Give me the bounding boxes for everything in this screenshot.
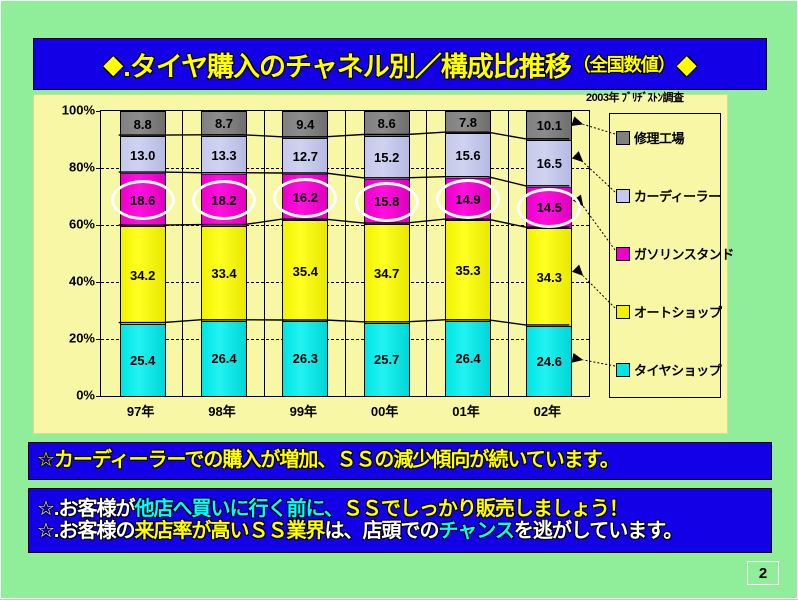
- y-axis-tick-label: 100%: [62, 103, 95, 118]
- bar-value-label: 25.7: [374, 352, 399, 367]
- bar-segment[interactable]: 15.8: [365, 179, 409, 224]
- bar-value-label: 25.4: [130, 353, 155, 368]
- bar-segment[interactable]: 16.5: [527, 140, 571, 187]
- callout-box-summary: ☆カーディーラーでの購入が増加、ＳＳの減少傾向が続いています。: [28, 442, 772, 480]
- bar-value-label: 9.4: [296, 117, 314, 132]
- bar-segment[interactable]: 14.5: [527, 187, 571, 228]
- bar-value-label: 14.9: [455, 192, 480, 207]
- bar-segment[interactable]: 8.7: [202, 111, 246, 136]
- x-axis-tick-label: 02年: [517, 401, 577, 420]
- bar-value-label: 34.7: [374, 266, 399, 281]
- bar-segment[interactable]: 35.3: [446, 220, 490, 321]
- legend-item[interactable]: カーディーラー: [616, 186, 721, 205]
- chart-bar[interactable]: 8.713.318.233.426.4: [201, 111, 247, 396]
- bar-segment[interactable]: 33.4: [202, 226, 246, 321]
- category-separator: [345, 111, 346, 396]
- bar-value-label: 16.2: [293, 190, 318, 205]
- x-axis-tick-label: 99年: [273, 401, 333, 420]
- bar-segment[interactable]: 34.2: [121, 226, 165, 323]
- chart-bar[interactable]: 8.615.215.834.725.7: [364, 111, 410, 396]
- chart-bar[interactable]: 8.813.018.634.225.4: [120, 111, 166, 396]
- chart-legend: 修理工場カーディーラーガソリンスタンドオートショップタイヤショップ: [609, 113, 721, 398]
- bar-segment[interactable]: 26.4: [202, 321, 246, 396]
- bar-segment[interactable]: 25.4: [121, 324, 165, 396]
- bar-segment[interactable]: 24.6: [527, 326, 571, 396]
- bar-segment[interactable]: 9.4: [283, 111, 327, 138]
- y-tick-mark: [96, 339, 101, 340]
- callout-line-2: ☆.お客様が他店へ買いに行く前に、ＳＳでしっかり販売しましょう！: [37, 499, 771, 521]
- category-separator: [508, 111, 509, 396]
- bar-value-label: 8.6: [378, 116, 396, 131]
- category-separator: [264, 111, 265, 396]
- bar-segment[interactable]: 10.1: [527, 111, 571, 140]
- bar-value-label: 34.3: [537, 270, 562, 285]
- y-axis-labels: 0%20%40%60%80%100%: [49, 110, 95, 397]
- x-axis-tick-label: 00年: [355, 401, 415, 420]
- legend-item[interactable]: オートショップ: [616, 302, 722, 321]
- legend-item-label: タイヤショップ: [634, 360, 721, 379]
- legend-color-swatch: [616, 247, 630, 261]
- y-tick-mark: [96, 282, 101, 283]
- bar-segment[interactable]: 12.7: [283, 138, 327, 174]
- bar-value-label: 33.4: [211, 266, 236, 281]
- bar-value-label: 18.6: [130, 193, 155, 208]
- bar-value-label: 10.1: [537, 118, 562, 133]
- x-axis-tick-label: 01年: [436, 401, 496, 420]
- survey-source-note: 2003年 ﾌﾞﾘﾁﾞｽﾄﾝ調査: [586, 89, 684, 105]
- chart-plot-area: 8.813.018.634.225.48.713.318.233.426.49.…: [100, 110, 590, 397]
- callout-text-run: 来店率が高いＳＳ業界: [135, 520, 325, 542]
- legend-color-swatch: [616, 363, 630, 377]
- y-tick-mark: [96, 396, 101, 397]
- legend-item-label: ガソリンスタンド: [634, 244, 734, 263]
- callout-line-1: ☆カーディーラーでの購入が増加、ＳＳの減少傾向が続いています。: [37, 450, 619, 472]
- bar-value-label: 12.7: [293, 149, 318, 164]
- slide-title-banner: ◆ .タイヤ購入のチャネル別／構成比推移 （全国数値） ◆: [33, 38, 767, 90]
- bar-value-label: 14.5: [537, 200, 562, 215]
- callout-text-run: 他店へ買いに行く前に、: [135, 498, 343, 520]
- bar-segment[interactable]: 25.7: [365, 323, 409, 396]
- bar-segment[interactable]: 35.4: [283, 220, 327, 321]
- bar-value-label: 8.8: [134, 117, 152, 132]
- y-tick-mark: [96, 168, 101, 169]
- bar-segment[interactable]: 16.2: [283, 174, 327, 220]
- bar-segment[interactable]: 18.2: [202, 174, 246, 226]
- callout-text-run: ＳＳでしっかり販売しましょう！: [343, 498, 628, 520]
- y-axis-tick-label: 80%: [69, 160, 95, 175]
- bar-segment[interactable]: 15.2: [365, 136, 409, 179]
- bar-segment[interactable]: 34.3: [527, 228, 571, 326]
- bar-segment[interactable]: 15.6: [446, 133, 490, 177]
- callout-box-action: ☆.お客様が他店へ買いに行く前に、ＳＳでしっかり販売しましょう！ ☆.お客様の来…: [28, 488, 772, 553]
- bar-value-label: 15.6: [455, 148, 480, 163]
- legend-item[interactable]: タイヤショップ: [616, 360, 721, 379]
- y-axis-tick-label: 20%: [69, 331, 95, 346]
- page-number: 2: [747, 561, 779, 585]
- bar-value-label: 7.8: [459, 115, 477, 130]
- bar-segment[interactable]: 13.0: [121, 136, 165, 173]
- bar-value-label: 26.4: [455, 351, 480, 366]
- bar-segment[interactable]: 34.7: [365, 224, 409, 323]
- bar-value-label: 15.8: [374, 194, 399, 209]
- bar-value-label: 26.4: [211, 351, 236, 366]
- callout-text-run: を逃がしています。: [514, 520, 682, 542]
- callout-line-1-text: ☆カーディーラーでの購入が増加、ＳＳの減少傾向が続いています。: [37, 449, 619, 471]
- bar-value-label: 35.3: [455, 263, 480, 278]
- bar-segment[interactable]: 18.6: [121, 173, 165, 226]
- slide-canvas: ◆ .タイヤ購入のチャネル別／構成比推移 （全国数値） ◆ 2003年 ﾌﾞﾘﾁ…: [0, 0, 798, 599]
- bar-value-label: 15.2: [374, 150, 399, 165]
- title-diamond-left: ◆: [103, 49, 123, 80]
- bar-value-label: 26.3: [293, 351, 318, 366]
- bar-value-label: 16.5: [537, 156, 562, 171]
- legend-item-label: カーディーラー: [634, 186, 721, 205]
- bar-segment[interactable]: 8.6: [365, 111, 409, 136]
- legend-color-swatch: [616, 189, 630, 203]
- bar-value-label: 13.3: [211, 148, 236, 163]
- y-axis-tick-label: 60%: [69, 217, 95, 232]
- callout-line-3: ☆.お客様の来店率が高いＳＳ業界は、店頭でのチャンスを逃がしています。: [37, 521, 771, 543]
- x-axis-tick-label: 97年: [111, 401, 171, 420]
- bar-value-label: 8.7: [215, 116, 233, 131]
- chart-bar[interactable]: 7.815.614.935.326.4: [445, 111, 491, 396]
- callout-text-run: チャンス: [439, 520, 514, 542]
- bar-value-label: 18.2: [211, 193, 236, 208]
- bar-segment[interactable]: 7.8: [446, 111, 490, 133]
- bar-value-label: 24.6: [537, 354, 562, 369]
- chart-bar[interactable]: 9.412.716.235.426.3: [282, 111, 328, 396]
- bar-segment[interactable]: 14.9: [446, 178, 490, 220]
- page-title: .タイヤ購入のチャネル別／構成比推移: [123, 45, 570, 84]
- legend-item-label: オートショップ: [634, 302, 722, 321]
- y-tick-mark: [96, 111, 101, 112]
- callout-text-run: は、店頭での: [325, 520, 439, 542]
- legend-color-swatch: [616, 305, 630, 319]
- y-axis-tick-label: 0%: [76, 388, 95, 403]
- bar-segment[interactable]: 26.3: [283, 321, 327, 396]
- legend-item[interactable]: ガソリンスタンド: [616, 244, 734, 263]
- bar-segment[interactable]: 8.8: [121, 111, 165, 136]
- bar-value-label: 34.2: [130, 268, 155, 283]
- category-separator: [426, 111, 427, 396]
- bar-segment[interactable]: 13.3: [202, 136, 246, 174]
- callout-text-run: ☆.お客様の: [37, 520, 135, 542]
- category-separator: [182, 111, 183, 396]
- title-subtitle: （全国数値）: [573, 51, 675, 77]
- chart-bar[interactable]: 10.116.514.534.324.6: [526, 111, 572, 396]
- legend-color-swatch: [616, 131, 630, 145]
- bar-segment[interactable]: 26.4: [446, 321, 490, 396]
- legend-item[interactable]: 修理工場: [616, 128, 684, 147]
- y-tick-mark: [96, 225, 101, 226]
- y-axis-tick-label: 40%: [69, 274, 95, 289]
- x-axis-tick-label: 98年: [192, 401, 252, 420]
- bar-value-label: 35.4: [293, 264, 318, 279]
- bar-value-label: 13.0: [130, 148, 155, 163]
- legend-item-label: 修理工場: [634, 128, 684, 147]
- callout-text-run: ☆.お客様が: [37, 498, 135, 520]
- title-diamond-right: ◆: [677, 49, 697, 80]
